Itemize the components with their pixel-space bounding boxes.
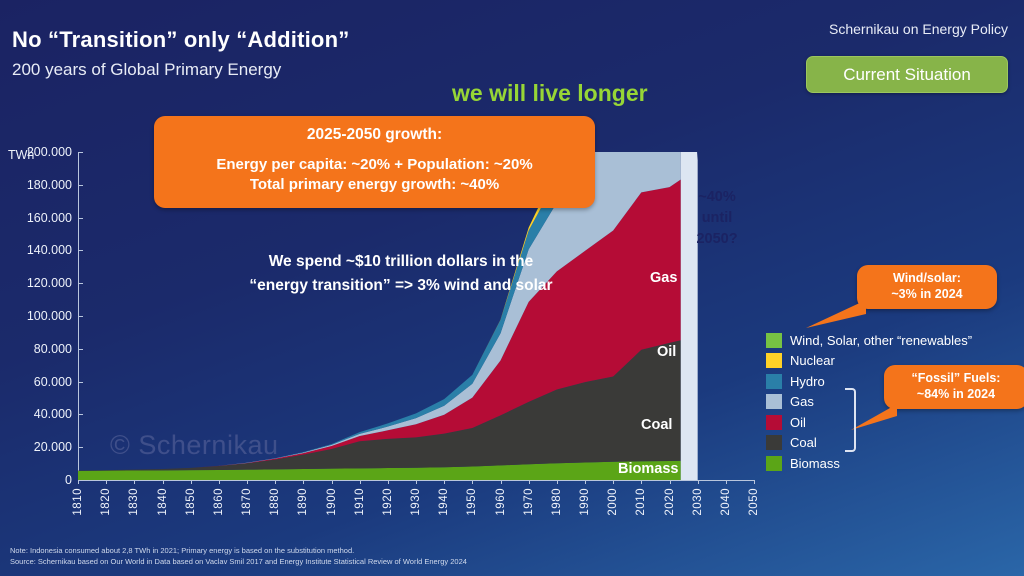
x-axis-tick: [529, 480, 530, 484]
legend-item[interactable]: Wind, Solar, other “renewables”: [766, 330, 972, 351]
y-axis-tick: [78, 316, 83, 317]
x-axis-tick: [444, 480, 445, 484]
wind-solar-line-1: Wind/solar:: [863, 271, 991, 287]
x-axis-tick-label: 1870: [241, 488, 253, 516]
y-axis-tick-label: 40.000: [34, 407, 72, 421]
x-axis-tick-label: 1890: [297, 488, 309, 516]
x-axis-tick: [303, 480, 304, 484]
x-axis-tick: [163, 480, 164, 484]
growth-line-3: Total primary energy growth: ~40%: [162, 175, 587, 195]
area-label-oil: Oil: [657, 344, 676, 360]
projection-label: ~40% until 2050?: [686, 187, 748, 250]
y-axis-tick-label: 120.000: [27, 276, 72, 290]
legend-swatch-icon: [766, 374, 782, 389]
legend-item[interactable]: Biomass: [766, 453, 972, 474]
growth-line-2: Energy per capita: ~20% + Population: ~2…: [162, 155, 587, 175]
x-axis-tick: [754, 480, 755, 484]
x-axis-tick: [472, 480, 473, 484]
x-axis-tick: [106, 480, 107, 484]
legend-label: Oil: [790, 415, 806, 430]
page-title: No “Transition” only “Addition”: [12, 27, 349, 53]
legend-item[interactable]: Coal: [766, 433, 972, 454]
x-axis-tick-label: 1980: [551, 488, 563, 516]
x-axis-tick-label: 1920: [382, 488, 394, 516]
x-axis-tick-label: 1850: [185, 488, 197, 516]
legend-item[interactable]: Nuclear: [766, 351, 972, 372]
area-label-coal: Coal: [641, 417, 672, 433]
x-axis-tick-label: 1830: [128, 488, 140, 516]
x-axis-tick-label: 1860: [213, 488, 225, 516]
legend-label: Nuclear: [790, 353, 835, 368]
y-axis-tick: [78, 152, 83, 153]
current-situation-button[interactable]: Current Situation: [806, 56, 1008, 93]
x-axis-tick: [219, 480, 220, 484]
y-axis-tick-label: 20.000: [34, 440, 72, 454]
legend-swatch-icon: [766, 435, 782, 450]
x-axis-tick: [585, 480, 586, 484]
y-axis-tick: [78, 283, 83, 284]
y-axis-tick: [78, 185, 83, 186]
x-axis-tick: [388, 480, 389, 484]
y-axis-tick: [78, 382, 83, 383]
wind-solar-callout: Wind/solar: ~3% in 2024: [857, 265, 997, 309]
x-axis-tick-label: 1930: [410, 488, 422, 516]
legend-label: Biomass: [790, 456, 840, 471]
fossil-fuels-bracket: [845, 388, 856, 452]
y-axis-tick-label: 160.000: [27, 211, 72, 225]
growth-line-1: 2025-2050 growth:: [162, 126, 587, 144]
x-axis-tick-label: 1970: [523, 488, 535, 516]
legend-label: Gas: [790, 394, 814, 409]
wind-solar-callout-tail: [806, 300, 866, 328]
x-axis-tick-label: 2000: [607, 488, 619, 516]
x-axis-tick-label: 1820: [100, 488, 112, 516]
x-axis-tick: [557, 480, 558, 484]
x-axis-tick: [641, 480, 642, 484]
x-axis-tick-label: 1840: [157, 488, 169, 516]
footnote-source: Source: Schernikau based on Our World in…: [10, 556, 467, 568]
legend-item[interactable]: Oil: [766, 412, 972, 433]
y-axis-labels: 200.000180.000160.000140.000120.000100.0…: [0, 152, 72, 480]
x-axis-tick-label: 2020: [664, 488, 676, 516]
chart-legend: Wind, Solar, other “renewables”NuclearHy…: [766, 330, 972, 474]
legend-item[interactable]: Gas: [766, 392, 972, 413]
legend-swatch-icon: [766, 353, 782, 368]
legend-item[interactable]: Hydro: [766, 371, 972, 392]
x-axis-tick-label: 2030: [692, 488, 704, 516]
legend-label: Hydro: [790, 374, 825, 389]
legend-label: Coal: [790, 435, 817, 450]
x-axis-tick: [416, 480, 417, 484]
legend-swatch-icon: [766, 394, 782, 409]
y-axis-tick: [78, 218, 83, 219]
x-axis-tick: [726, 480, 727, 484]
y-axis-tick-label: 80.000: [34, 342, 72, 356]
x-axis-tick: [698, 480, 699, 484]
x-axis-tick-label: 1880: [269, 488, 281, 516]
x-axis-tick: [247, 480, 248, 484]
x-axis-tick: [360, 480, 361, 484]
x-axis-tick: [332, 480, 333, 484]
legend-label: Wind, Solar, other “renewables”: [790, 333, 972, 348]
center-annotation-line-2: “energy transition” => 3% wind and solar: [205, 274, 597, 298]
x-axis-tick-label: 1960: [495, 488, 507, 516]
legend-swatch-icon: [766, 456, 782, 471]
x-axis-tick-label: 2010: [635, 488, 647, 516]
x-axis-tick: [191, 480, 192, 484]
wind-solar-line-2: ~3% in 2024: [863, 287, 991, 303]
center-annotation: We spend ~$10 trillion dollars in the “e…: [205, 250, 597, 298]
green-headline: we will live longer: [452, 80, 648, 107]
growth-callout: 2025-2050 growth: Energy per capita: ~20…: [154, 116, 595, 208]
x-axis-tick-label: 1910: [354, 488, 366, 516]
y-axis-tick-label: 100.000: [27, 309, 72, 323]
page-subtitle: 200 years of Global Primary Energy: [12, 60, 281, 80]
x-axis-tick-label: 1900: [326, 488, 338, 516]
y-axis-tick: [78, 349, 83, 350]
y-axis-tick: [78, 250, 83, 251]
y-axis-tick: [78, 414, 83, 415]
x-axis-tick: [670, 480, 671, 484]
x-axis-tick-label: 1950: [466, 488, 478, 516]
x-axis-tick-label: 1810: [72, 488, 84, 516]
x-axis-tick-label: 1990: [579, 488, 591, 516]
area-label-biomass: Biomass: [618, 461, 678, 477]
header-right-label: Schernikau on Energy Policy: [829, 21, 1008, 37]
x-axis-tick: [501, 480, 502, 484]
y-axis-tick-label: 180.000: [27, 178, 72, 192]
x-axis-tick: [275, 480, 276, 484]
legend-swatch-icon: [766, 415, 782, 430]
y-axis-tick-label: 200.000: [27, 145, 72, 159]
slide-root: No “Transition” only “Addition” 200 year…: [0, 0, 1024, 576]
x-axis-tick: [134, 480, 135, 484]
y-axis-tick: [78, 447, 83, 448]
footnote: Note: Indonesia consumed about 2,8 TWh i…: [10, 545, 467, 568]
x-axis-labels: 1810182018301840185018601870188018901900…: [78, 484, 754, 532]
x-axis-tick: [613, 480, 614, 484]
y-axis-tick-label: 0: [65, 473, 72, 487]
y-axis-tick-label: 140.000: [27, 243, 72, 257]
center-annotation-line-1: We spend ~$10 trillion dollars in the: [205, 250, 597, 274]
x-axis-tick: [78, 480, 79, 484]
footnote-note: Note: Indonesia consumed about 2,8 TWh i…: [10, 545, 467, 557]
x-axis-tick-label: 2050: [748, 488, 760, 516]
watermark: © Schernikau: [110, 430, 278, 461]
area-label-gas: Gas: [650, 270, 677, 286]
x-axis-tick-label: 2040: [720, 488, 732, 516]
legend-swatch-icon: [766, 333, 782, 348]
x-axis-tick-label: 1940: [438, 488, 450, 516]
y-axis-tick-label: 60.000: [34, 375, 72, 389]
